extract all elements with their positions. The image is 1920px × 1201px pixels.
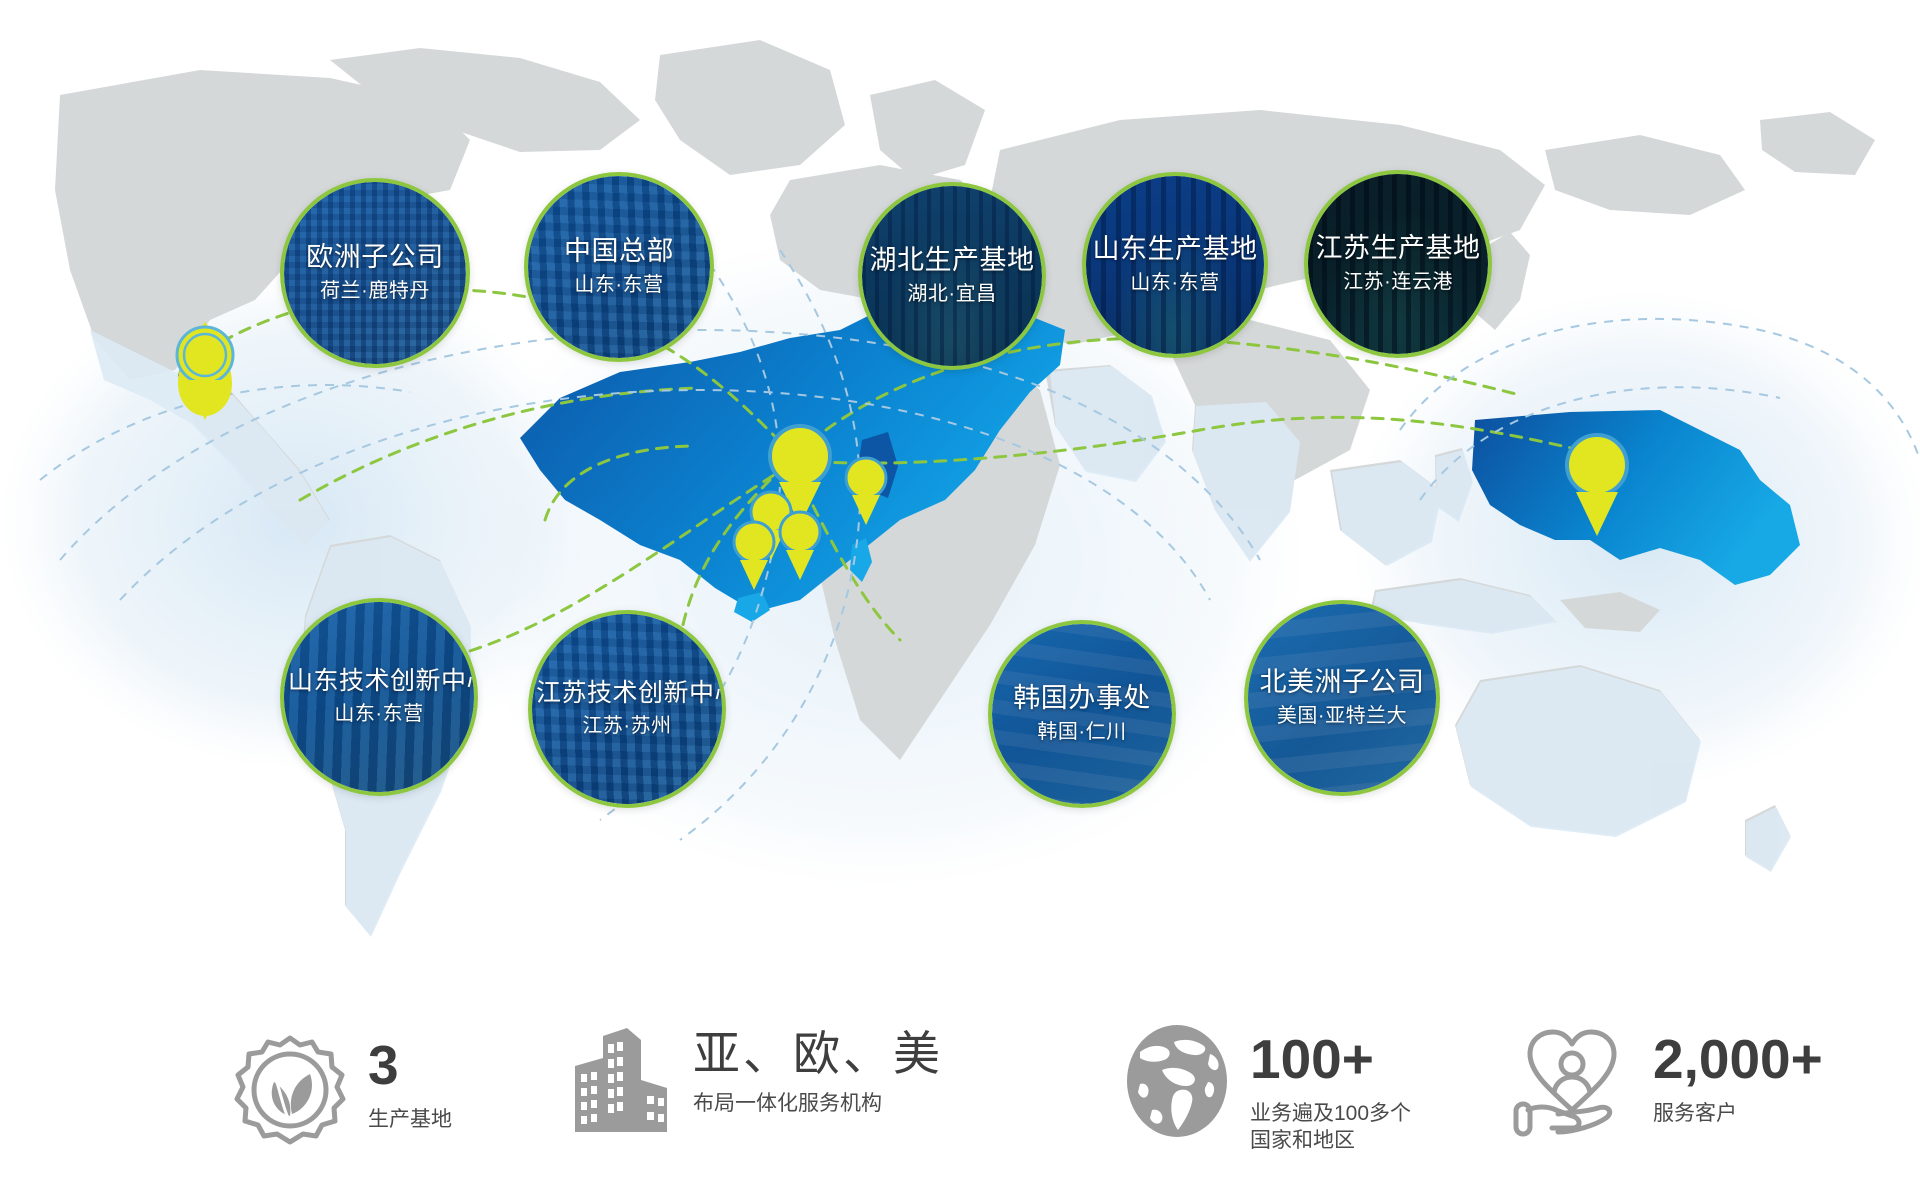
infographic-root: 欧洲子公司 荷兰·鹿特丹 中国总部 山东·东营 湖北生产基地 湖北·宜昌 山东生… bbox=[0, 0, 1920, 1201]
location-title: 韩国办事处 bbox=[996, 683, 1168, 715]
location-china-headquarters[interactable]: 中国总部 山东·东营 bbox=[524, 172, 714, 362]
stats-bar: 3 生产基地 bbox=[0, 1010, 1920, 1200]
location-text: 北美洲子公司 美国·亚特兰大 bbox=[1248, 667, 1436, 728]
stat-body: 3 生产基地 bbox=[368, 1030, 452, 1134]
location-text: 山东生产基地 山东·东营 bbox=[1086, 234, 1264, 295]
location-jiangsu-production[interactable]: 江苏生产基地 江苏·连云港 bbox=[1304, 170, 1492, 358]
location-text: 山东技术创新中心 山东·东营 bbox=[284, 667, 474, 726]
location-text: 中国总部 山东·东营 bbox=[528, 236, 710, 297]
stat-label: 服务客户 bbox=[1653, 1101, 1823, 1128]
stat-body: 100+ 业务遍及100多个 国家和地区 bbox=[1250, 1024, 1411, 1155]
location-title: 山东生产基地 bbox=[1090, 234, 1260, 266]
location-text: 湖北生产基地 湖北·宜昌 bbox=[862, 245, 1042, 306]
location-north-america-subsidiary[interactable]: 北美洲子公司 美国·亚特兰大 bbox=[1244, 600, 1440, 796]
location-shandong-tech-center[interactable]: 山东技术创新中心 山东·东营 bbox=[280, 598, 478, 796]
location-europe-subsidiary[interactable]: 欧洲子公司 荷兰·鹿特丹 bbox=[280, 178, 470, 368]
location-title: 江苏技术创新中心 bbox=[536, 679, 718, 709]
location-subtitle: 江苏·苏州 bbox=[536, 715, 718, 739]
location-title: 山东技术创新中心 bbox=[288, 667, 470, 697]
globe-icon bbox=[1122, 1024, 1232, 1144]
location-subtitle: 山东·东营 bbox=[532, 274, 706, 298]
location-hubei-production[interactable]: 湖北生产基地 湖北·宜昌 bbox=[858, 182, 1046, 370]
location-title: 欧洲子公司 bbox=[288, 242, 462, 274]
stat-label: 布局一体化服务机构 bbox=[693, 1091, 943, 1118]
stat-value: 100+ bbox=[1250, 1032, 1411, 1087]
heart-hand-icon bbox=[1510, 1024, 1635, 1147]
location-text: 江苏生产基地 江苏·连云港 bbox=[1308, 233, 1488, 294]
stat-countries: 100+ 业务遍及100多个 国家和地区 bbox=[1122, 1024, 1411, 1155]
location-title: 湖北生产基地 bbox=[866, 245, 1038, 277]
location-text: 韩国办事处 韩国·仁川 bbox=[992, 683, 1172, 744]
stat-value: 3 bbox=[368, 1038, 452, 1093]
location-subtitle: 荷兰·鹿特丹 bbox=[288, 280, 462, 304]
location-subtitle: 湖北·宜昌 bbox=[866, 283, 1038, 307]
stat-regions: 亚、欧、美 布局一体化服务机构 bbox=[555, 1022, 943, 1147]
buildings-icon bbox=[555, 1022, 675, 1147]
world-map-svg bbox=[0, 0, 1920, 1005]
stat-label: 业务遍及100多个 国家和地区 bbox=[1250, 1101, 1411, 1155]
location-title: 北美洲子公司 bbox=[1252, 667, 1432, 699]
stat-body: 亚、欧、美 布局一体化服务机构 bbox=[693, 1022, 943, 1118]
location-subtitle: 美国·亚特兰大 bbox=[1252, 705, 1432, 729]
location-title: 中国总部 bbox=[532, 236, 706, 268]
location-text: 江苏技术创新中心 江苏·苏州 bbox=[532, 679, 722, 738]
gear-leaf-icon bbox=[230, 1030, 350, 1155]
location-shandong-production[interactable]: 山东生产基地 山东·东营 bbox=[1082, 172, 1268, 358]
location-subtitle: 韩国·仁川 bbox=[996, 721, 1168, 745]
stat-value: 2,000+ bbox=[1653, 1032, 1823, 1087]
location-subtitle: 山东·东营 bbox=[288, 703, 470, 727]
location-subtitle: 江苏·连云港 bbox=[1312, 271, 1484, 295]
stat-value: 亚、欧、美 bbox=[693, 1030, 943, 1077]
location-korea-office[interactable]: 韩国办事处 韩国·仁川 bbox=[988, 620, 1176, 808]
map-pin-netherlands[interactable] bbox=[177, 322, 233, 420]
location-text: 欧洲子公司 荷兰·鹿特丹 bbox=[284, 242, 466, 303]
stat-label: 生产基地 bbox=[368, 1107, 452, 1134]
location-title: 江苏生产基地 bbox=[1312, 233, 1484, 265]
stat-production-bases: 3 生产基地 bbox=[230, 1030, 452, 1155]
location-jiangsu-tech-center[interactable]: 江苏技术创新中心 江苏·苏州 bbox=[528, 610, 726, 808]
stat-body: 2,000+ 服务客户 bbox=[1653, 1024, 1823, 1128]
location-subtitle: 山东·东营 bbox=[1090, 272, 1260, 296]
stat-customers: 2,000+ 服务客户 bbox=[1510, 1024, 1823, 1147]
